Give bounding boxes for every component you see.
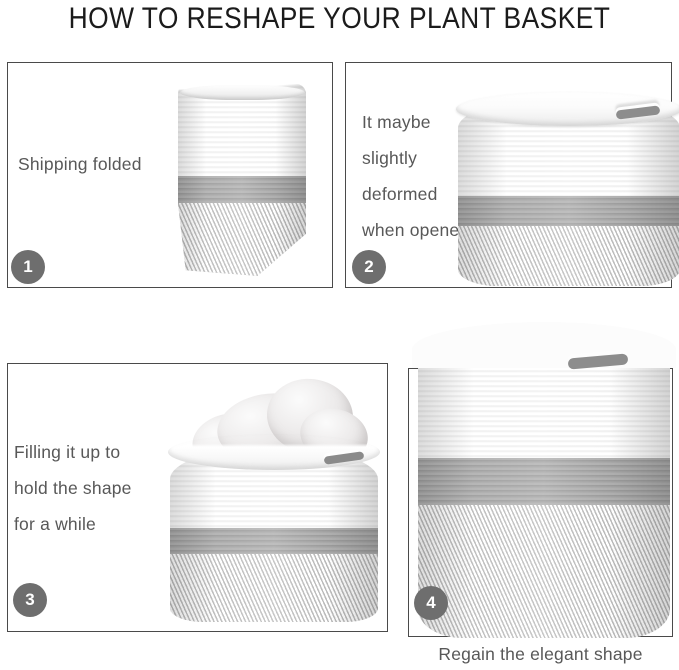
basket-filled-with-towels-photo	[168, 372, 380, 622]
step-1-caption: Shipping folded	[18, 146, 142, 182]
step-4-badge: 4	[414, 586, 448, 620]
basket-woven-base-section	[178, 203, 306, 276]
step-3-badge: 3	[13, 583, 47, 617]
basket-rim	[412, 322, 676, 368]
basket-woven-base-section	[170, 554, 378, 622]
folded-basket-photo	[178, 84, 306, 276]
basket-rim	[168, 434, 380, 470]
step-1-badge: 1	[11, 250, 45, 284]
basket-body	[418, 348, 670, 638]
page-title: HOW TO RESHAPE YOUR PLANT BASKET	[41, 2, 639, 36]
basket-body	[178, 84, 306, 276]
step-3-caption: Filling it up to hold the shape for a wh…	[14, 434, 132, 542]
basket-rim	[180, 85, 305, 100]
basket-gray-band-section	[418, 458, 670, 504]
reshaped-basket-closeup-photo	[418, 348, 670, 638]
basket-woven-base-section	[458, 226, 679, 286]
deformed-basket-photo	[452, 78, 679, 286]
step-2-badge: 2	[352, 250, 386, 284]
basket-woven-base-section	[418, 505, 670, 638]
basket-gray-band-section	[458, 196, 679, 226]
basket-gray-band-section	[178, 176, 306, 203]
basket-body	[458, 98, 679, 286]
basket-body	[170, 448, 378, 622]
step-4-caption: Regain the elegant shape	[408, 644, 673, 665]
basket-gray-band-section	[170, 528, 378, 554]
